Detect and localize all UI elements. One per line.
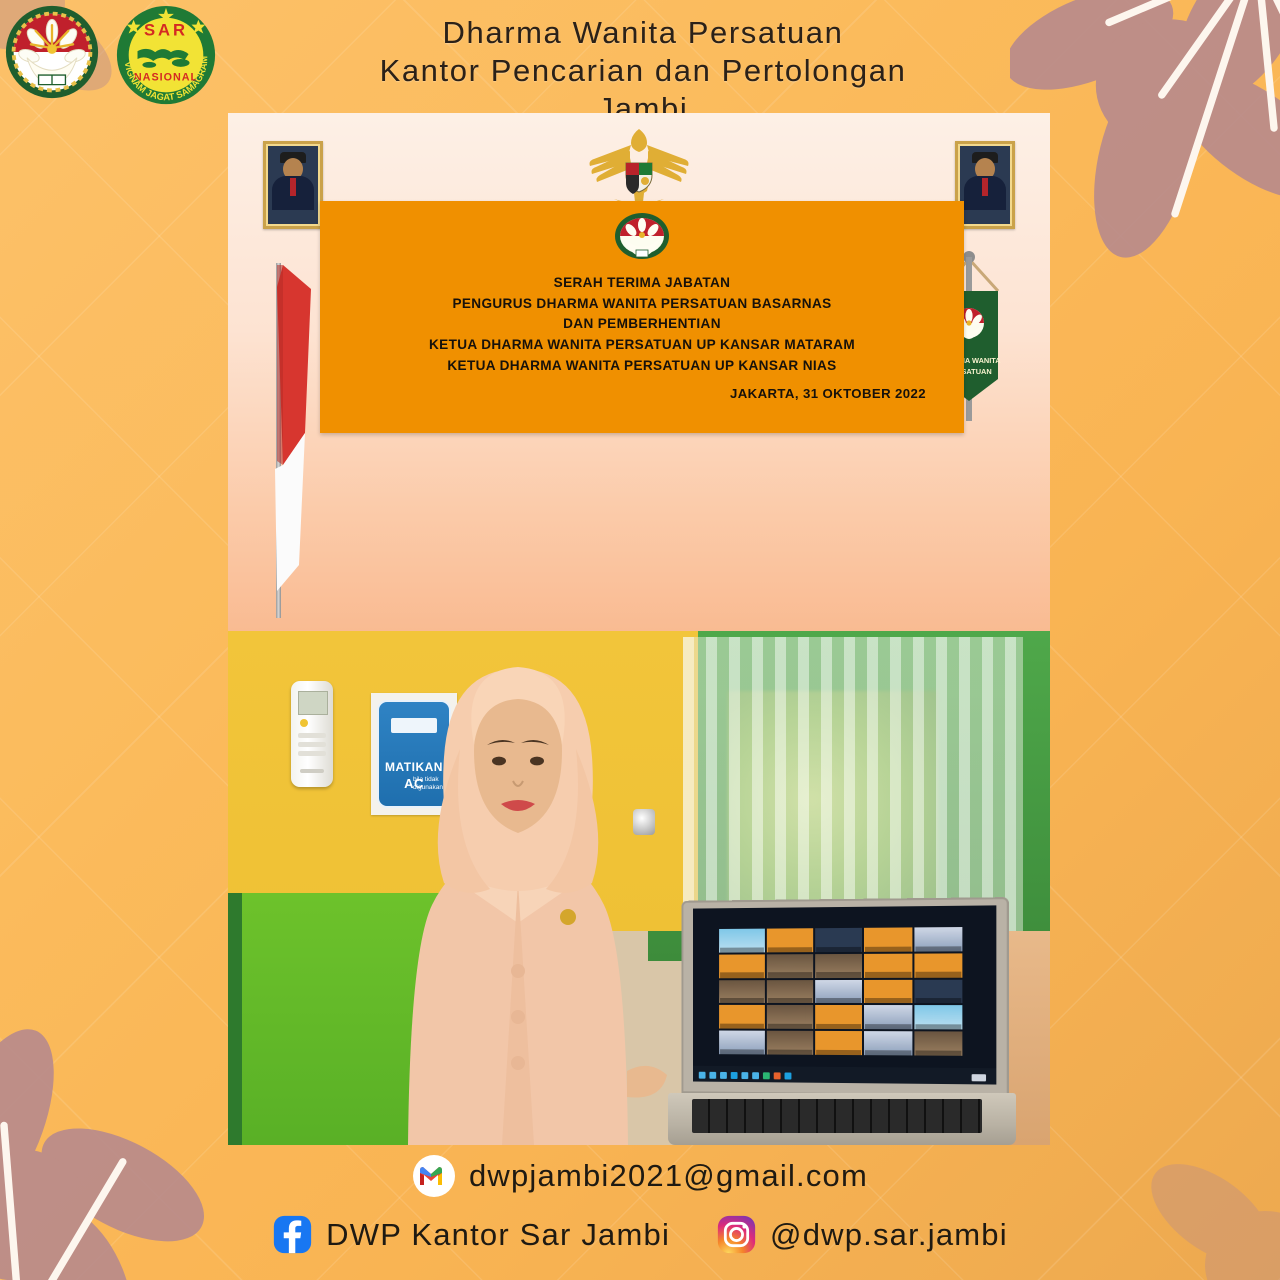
participant-tile[interactable] [864, 928, 911, 952]
participant-tile[interactable] [719, 980, 765, 1004]
office-photo: MATIKAN AC bila tidak digunakan [228, 631, 1050, 1145]
participant-tile[interactable] [914, 927, 962, 951]
participant-tile[interactable] [767, 954, 813, 978]
laptop-base [668, 1093, 1016, 1145]
laptop-keyboard[interactable] [692, 1099, 982, 1133]
windows-taskbar[interactable] [693, 1066, 996, 1085]
participant-tile[interactable] [864, 953, 911, 977]
participant-tile[interactable] [719, 1005, 765, 1029]
participant-tile[interactable] [914, 979, 962, 1003]
participant-tile[interactable] [767, 980, 813, 1004]
participant-tile[interactable] [767, 928, 813, 952]
facebook-contact[interactable]: DWP Kantor Sar Jambi [272, 1214, 670, 1255]
dwp-logo-icon [4, 4, 100, 100]
instagram-icon [716, 1214, 757, 1255]
participant-tile[interactable] [914, 1031, 962, 1055]
participant-tile[interactable] [864, 1031, 911, 1055]
email-text: dwpjambi2021@gmail.com [469, 1158, 868, 1194]
participant-tile[interactable] [816, 928, 863, 952]
wall-green-edge [228, 893, 242, 1145]
banner-text: SERAH TERIMA JABATAN PENGURUS DHARMA WAN… [320, 273, 964, 376]
banner-line-1: SERAH TERIMA JABATAN [320, 273, 964, 294]
vice-president-portrait [955, 141, 1015, 229]
banner-line-2: PENGURUS DHARMA WANITA PERSATUAN BASARNA… [320, 294, 964, 315]
gmail-icon [412, 1154, 456, 1198]
participant-tile[interactable] [816, 954, 863, 978]
participant-tile[interactable] [914, 1005, 962, 1029]
page-title: Dharma Wanita Persatuan Kantor Pencarian… [228, 14, 1058, 127]
participant-tile[interactable] [816, 1005, 863, 1029]
banner-date: JAKARTA, 31 OKTOBER 2022 [730, 386, 926, 401]
participant-tile[interactable] [767, 1031, 813, 1055]
sar-logo-subtext: NASIONAL [134, 72, 198, 84]
photo-card: DHARMA WANITA PERSATUAN [228, 113, 1050, 1145]
sar-nasional-logo-icon: SAR NASIONAL AVIGNAM JAGAT SAMAGRAM [112, 4, 220, 108]
participant-tile[interactable] [719, 929, 765, 953]
instagram-text: @dwp.sar.jambi [770, 1217, 1008, 1253]
ceremony-banner: SERAH TERIMA JABATAN PENGURUS DHARMA WAN… [320, 201, 964, 433]
banner-line-5: KETUA DHARMA WANITA PERSATUAN UP KANSAR … [320, 356, 964, 377]
participant-tile[interactable] [864, 979, 911, 1003]
portrait-caption [266, 224, 320, 225]
instagram-contact[interactable]: @dwp.sar.jambi [716, 1214, 1008, 1255]
participant-tile[interactable] [816, 980, 863, 1004]
indonesian-flag-icon [253, 265, 315, 595]
person-portrait [353, 641, 683, 1145]
zoom-participant-grid[interactable] [719, 927, 961, 1055]
title-line-2: Kantor Pencarian dan Pertolongan [228, 52, 1058, 90]
contact-footer: dwpjambi2021@gmail.com DWP Kantor Sar Ja… [0, 1144, 1280, 1272]
laptop-lid [681, 897, 1008, 1097]
laptop [668, 899, 1016, 1145]
poster-canvas: SAR NASIONAL AVIGNAM JAGAT SAMAGRAM Dhar… [0, 0, 1280, 1280]
facebook-icon [272, 1214, 313, 1255]
president-portrait [263, 141, 323, 229]
video-conference-screen[interactable] [693, 905, 996, 1084]
banner-line-4: KETUA DHARMA WANITA PERSATUAN UP KANSAR … [320, 335, 964, 356]
ac-remote-control [291, 681, 333, 787]
participant-tile[interactable] [816, 1031, 863, 1055]
email-contact[interactable]: dwpjambi2021@gmail.com [412, 1154, 868, 1198]
dwp-banner-emblem-icon [614, 212, 670, 260]
participant-tile[interactable] [864, 1005, 911, 1029]
participant-tile[interactable] [719, 1031, 765, 1055]
title-line-1: Dharma Wanita Persatuan [228, 14, 1058, 52]
participant-tile[interactable] [719, 954, 765, 978]
ceremony-screenshot: DHARMA WANITA PERSATUAN [228, 113, 1050, 631]
participant-tile[interactable] [914, 953, 962, 977]
participant-tile[interactable] [767, 1005, 813, 1029]
sar-logo-text: SAR [144, 20, 188, 39]
banner-line-3: DAN PEMBERHENTIAN [320, 314, 964, 335]
portrait-caption [958, 224, 1012, 225]
garuda-pancasila-emblem [584, 121, 694, 213]
facebook-text: DWP Kantor Sar Jambi [326, 1217, 670, 1253]
